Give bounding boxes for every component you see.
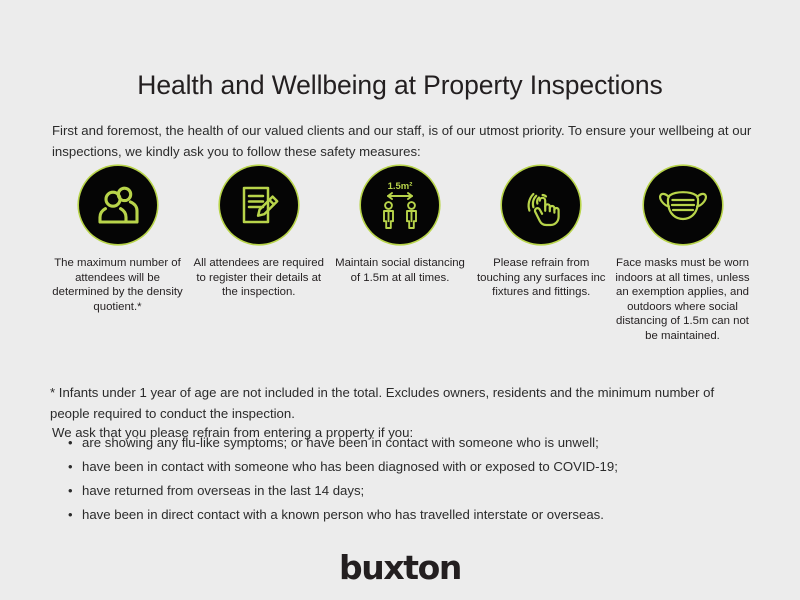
face-mask-icon: [644, 166, 722, 244]
hand-touch-icon: [502, 166, 580, 244]
measure-item-attendees: The maximum number of attendees will be …: [50, 166, 185, 314]
measure-caption: Please refrain from touching any surface…: [474, 256, 609, 300]
document-pencil-icon: [220, 166, 298, 244]
measure-caption: Face masks must be worn indoors at all t…: [615, 256, 750, 344]
list-item: have returned from overseas in the last …: [82, 479, 792, 503]
flyer-page: Health and Wellbeing at Property Inspect…: [0, 0, 800, 600]
two-people-icon: [79, 166, 157, 244]
svg-text:1.5m²: 1.5m²: [388, 181, 413, 192]
refrain-bullet-list: are showing any flu-like symptoms; or ha…: [60, 431, 792, 527]
measure-caption: The maximum number of attendees will be …: [50, 256, 185, 314]
page-title: Health and Wellbeing at Property Inspect…: [0, 68, 800, 102]
list-item: are showing any flu-like symptoms; or ha…: [82, 431, 792, 455]
measure-item-face-mask: Face masks must be worn indoors at all t…: [615, 166, 750, 344]
list-item: have been in direct contact with a known…: [82, 503, 792, 527]
buxton-logo: buxton: [0, 548, 800, 587]
measure-caption: Maintain social distancing of 1.5m at al…: [333, 256, 468, 285]
list-item: have been in contact with someone who ha…: [82, 455, 792, 479]
measure-item-no-touch: Please refrain from touching any surface…: [474, 166, 609, 300]
footnote-text: * Infants under 1 year of age are not in…: [50, 383, 755, 424]
social-distancing-icon: 1.5m²: [361, 166, 439, 244]
measure-caption: All attendees are required to register t…: [191, 256, 326, 300]
measure-item-register: All attendees are required to register t…: [191, 166, 326, 300]
safety-measures-row: The maximum number of attendees will be …: [50, 166, 750, 344]
measure-item-distancing: 1.5m² Maintain social distancing of 1.5m…: [333, 166, 468, 285]
intro-paragraph: First and foremost, the health of our va…: [52, 121, 752, 162]
